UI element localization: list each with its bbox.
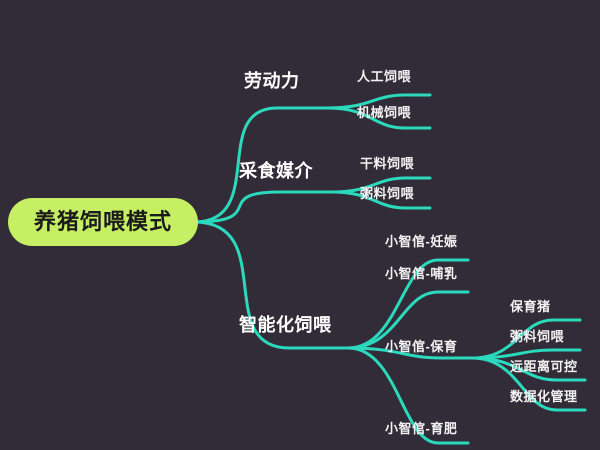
root-node[interactable]: 养猪饲喂模式 — [8, 198, 198, 246]
leaf-label-nursery-pig[interactable]: 保育猪 — [510, 300, 551, 313]
leaf-label-nursery[interactable]: 小智倌-保育 — [385, 340, 457, 353]
leaf-label-porridge-feed-2[interactable]: 粥料饲喂 — [510, 330, 564, 343]
leaf-label-dry-feed[interactable]: 干料饲喂 — [360, 157, 414, 170]
leaf-label-lactation[interactable]: 小智倌-哺乳 — [385, 267, 457, 280]
branch-label-labor[interactable]: 劳动力 — [244, 72, 300, 90]
branch-label-medium[interactable]: 采食媒介 — [239, 162, 313, 180]
branch-label-smart[interactable]: 智能化饲喂 — [239, 316, 332, 334]
mindmap-canvas: 养猪饲喂模式 劳动力 采食媒介 智能化饲喂 人工饲喂 机械饲喂 干料饲喂 粥料饲… — [0, 0, 600, 450]
leaf-label-remote-control[interactable]: 远距离可控 — [510, 360, 578, 373]
leaf-label-mechanical-feeding[interactable]: 机械饲喂 — [357, 106, 411, 119]
leaf-label-fattening[interactable]: 小智倌-育肥 — [385, 422, 457, 435]
leaf-label-porridge-feed[interactable]: 粥料饲喂 — [360, 187, 414, 200]
leaf-label-gestation[interactable]: 小智倌-妊娠 — [385, 235, 457, 248]
root-node-label: 养猪饲喂模式 — [34, 211, 172, 233]
leaf-label-data-management[interactable]: 数据化管理 — [510, 390, 578, 403]
leaf-label-manual-feeding[interactable]: 人工饲喂 — [357, 70, 411, 83]
